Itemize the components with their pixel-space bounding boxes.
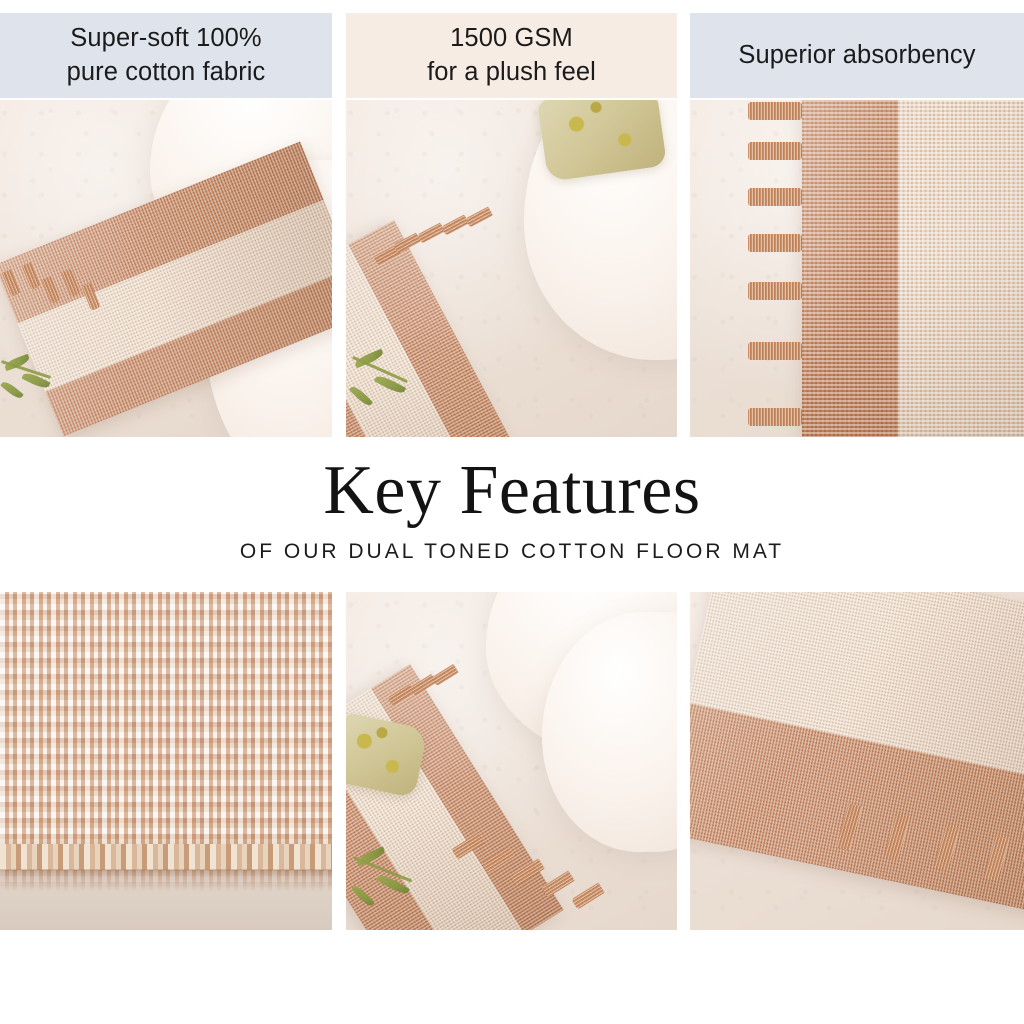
photo-mat-with-foliage [346, 592, 677, 930]
top-banner-row: Super-soft 100% pure cotton fabric 1500 … [0, 13, 1024, 98]
tassel [748, 282, 802, 300]
banner-gsm-line1: 1500 GSM [417, 22, 606, 56]
feature-infographic: Super-soft 100% pure cotton fabric 1500 … [0, 0, 1024, 1024]
tassel [748, 188, 802, 206]
bottom-photo-row [0, 592, 1024, 930]
page-title: Key Features [0, 455, 1024, 526]
banner-super-soft: Super-soft 100% pure cotton fabric [0, 13, 332, 98]
tassel [748, 408, 802, 426]
tassel [748, 342, 802, 360]
photo-mat-tassel-corner [690, 592, 1024, 930]
tassel [748, 142, 802, 160]
banner-absorbency: Superior absorbency [690, 13, 1024, 98]
floor-shadow [0, 869, 332, 930]
top-photo-row [0, 100, 1024, 437]
photo-mat-flat-with-sofa [0, 100, 332, 437]
banner-gsm-line2: for a plush feel [417, 56, 606, 90]
floor-mat [802, 100, 1024, 437]
tassel [748, 102, 802, 120]
title-block: Key Features OF OUR DUAL TONED COTTON FL… [0, 455, 1024, 585]
tassel [748, 234, 802, 252]
page-subtitle: OF OUR DUAL TONED COTTON FLOOR MAT [0, 540, 1024, 564]
weave-edge [0, 844, 332, 870]
banner-absorbency-line1: Superior absorbency [728, 39, 985, 73]
banner-super-soft-line1: Super-soft 100% [57, 22, 276, 56]
banner-super-soft-line2: pure cotton fabric [57, 56, 276, 90]
photo-mat-corner-tassels [690, 100, 1024, 437]
banner-gsm: 1500 GSM for a plush feel [346, 13, 677, 98]
photo-mat-angled-with-cushion [346, 100, 677, 437]
photo-weave-macro [0, 592, 332, 930]
